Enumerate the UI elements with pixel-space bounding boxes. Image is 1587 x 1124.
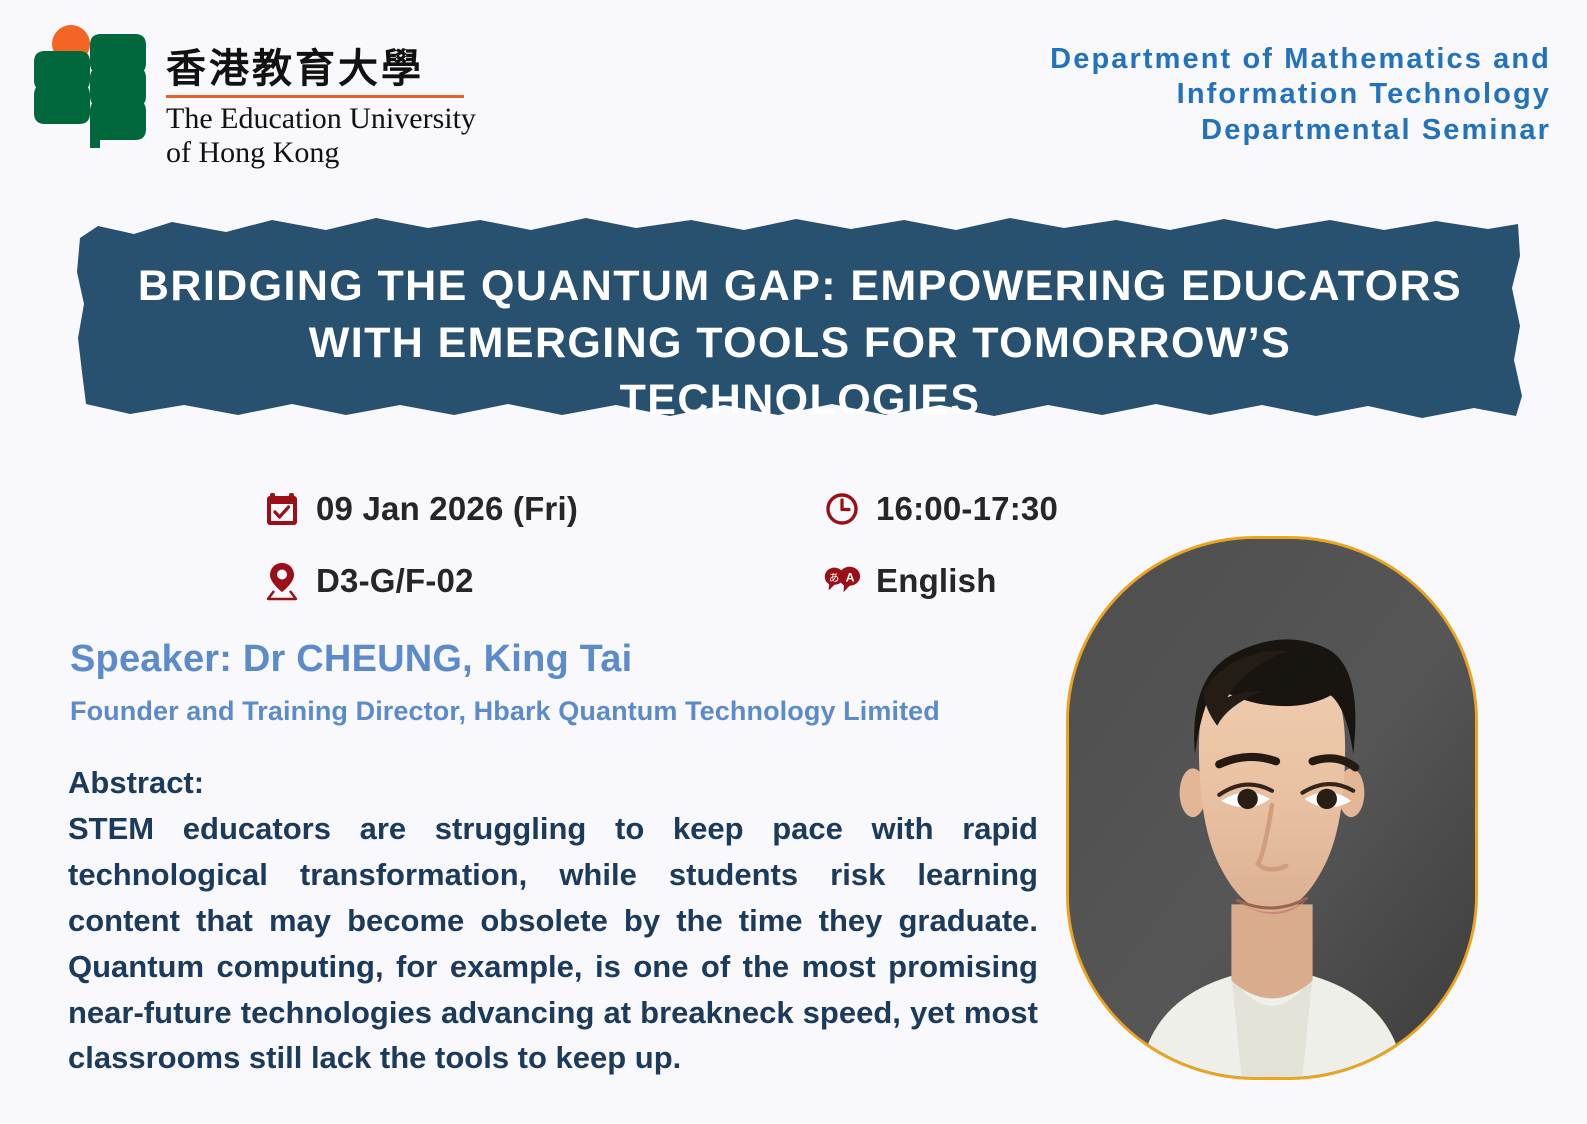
department-line-3: Departmental Seminar — [1050, 113, 1551, 148]
detail-language: あ A English — [822, 559, 997, 603]
department-line-2: Information Technology — [1050, 77, 1551, 112]
university-logo-block: 香港教育大學 The Education University of Hong … — [28, 22, 476, 169]
time-value: 16:00-17:30 — [876, 490, 1058, 528]
university-name-english-line1: The Education University — [166, 102, 476, 136]
speaker-affiliation: Founder and Training Director, Hbark Qua… — [70, 696, 940, 727]
venue-value: D3-G/F-02 — [316, 562, 474, 600]
seminar-details: 09 Jan 2026 (Fri) 16:00-17:30 D3-G/F-02 — [262, 487, 1082, 631]
eduhk-logo-icon — [28, 22, 148, 152]
banner-title-text: BRIDGING THE QUANTUM GAP: EMPOWERING EDU… — [76, 258, 1524, 430]
calendar-check-icon — [262, 487, 302, 531]
detail-date: 09 Jan 2026 (Fri) — [262, 487, 822, 531]
date-value: 09 Jan 2026 (Fri) — [316, 490, 578, 528]
speaker-name: Speaker: Dr CHEUNG, King Tai — [70, 638, 632, 681]
department-line-1: Department of Mathematics and — [1050, 42, 1551, 77]
university-name-chinese: 香港教育大學 — [166, 48, 476, 90]
title-banner: BRIDGING THE QUANTUM GAP: EMPOWERING EDU… — [76, 208, 1524, 430]
details-row-2: D3-G/F-02 あ A English — [262, 559, 1082, 603]
detail-time: 16:00-17:30 — [822, 487, 1058, 531]
location-pin-icon — [262, 559, 302, 603]
banner-title-line-1: BRIDGING THE QUANTUM GAP: EMPOWERING EDU… — [128, 258, 1472, 315]
university-name: 香港教育大學 The Education University of Hong … — [166, 22, 476, 169]
translate-icon: あ A — [822, 559, 862, 603]
university-name-english-line2: of Hong Kong — [166, 136, 476, 170]
language-value: English — [876, 562, 997, 600]
speaker-portrait-image — [1069, 539, 1475, 1077]
clock-icon — [822, 487, 862, 531]
translate-bubble-left-glyph: あ — [829, 572, 839, 584]
department-heading: Department of Mathematics and Informatio… — [1050, 42, 1551, 148]
abstract-label: Abstract: — [68, 765, 204, 801]
details-row-1: 09 Jan 2026 (Fri) 16:00-17:30 — [262, 487, 1082, 531]
translate-bubble-right-glyph: A — [846, 570, 855, 584]
poster-header: 香港教育大學 The Education University of Hong … — [0, 0, 1587, 190]
detail-venue: D3-G/F-02 — [262, 559, 822, 603]
banner-title-line-2: WITH EMERGING TOOLS FOR TOMORROW’S TECHN… — [128, 315, 1472, 429]
logo-divider — [166, 95, 464, 98]
abstract-text: STEM educators are struggling to keep pa… — [68, 806, 1038, 1081]
speaker-portrait — [1066, 536, 1478, 1080]
